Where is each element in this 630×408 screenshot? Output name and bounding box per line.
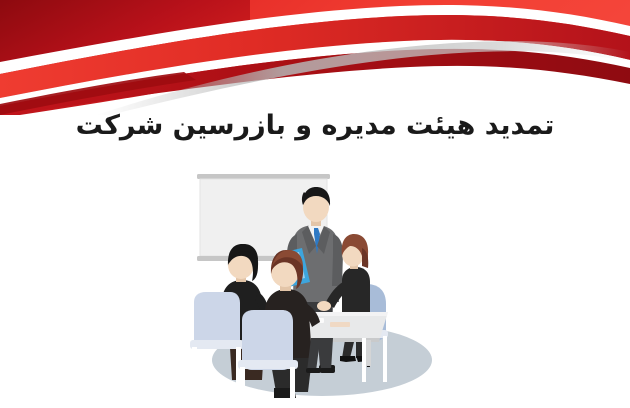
business-meeting-illustration — [170, 162, 470, 408]
slide-canvas: تمدید هیئت مدیره و بازرسین شرکت — [0, 0, 630, 408]
chair-left — [190, 292, 244, 399]
page-title: تمدید هیئت مدیره و بازرسین شرکت — [0, 104, 630, 148]
red-wave-banner — [0, 0, 630, 115]
